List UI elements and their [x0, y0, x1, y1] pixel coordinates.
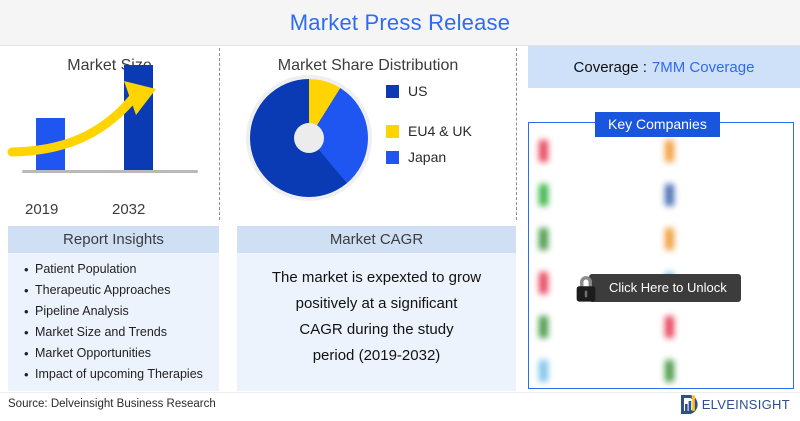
- cagr-line: CAGR during the study: [251, 317, 502, 343]
- cagr-line: positively at a significant: [251, 291, 502, 317]
- report-insights-list: Patient PopulationTherapeutic Approaches…: [8, 259, 219, 385]
- delveinsight-wordmark: ELVEINSIGHT: [702, 397, 790, 412]
- legend-swatch-us: [386, 85, 399, 98]
- market-size-panel: Market Size 2019 2032: [0, 48, 219, 220]
- list-item: Impact of upcoming Therapies: [24, 364, 219, 385]
- market-share-title: Market Share Distribution: [220, 57, 516, 75]
- key-companies-panel[interactable]: Click Here to Unlock: [528, 122, 794, 389]
- key-companies-badge: Key Companies: [595, 112, 720, 137]
- header-bar: Market Press Release: [0, 0, 800, 46]
- delveinsight-logo: ELVEINSIGHT: [681, 395, 790, 414]
- axis-label-start: 2019: [25, 201, 58, 218]
- page-title: Market Press Release: [290, 10, 510, 36]
- legend-item-japan: Japan: [386, 147, 516, 167]
- company-logo-grid: [529, 123, 793, 388]
- source-note: Source: Delveinsight Business Research: [8, 398, 216, 410]
- legend-swatch-japan: [386, 151, 399, 164]
- company-logo: [665, 131, 783, 171]
- padlock-icon: [569, 271, 603, 305]
- delveinsight-d-icon: [681, 395, 701, 414]
- legend-item-eu4-uk: EU4 & UK: [386, 121, 516, 141]
- report-insights-title: Report Insights: [8, 226, 219, 253]
- unlock-tooltip[interactable]: Click Here to Unlock: [589, 274, 741, 302]
- press-release-slide: Market Press Release Market Size 2019 20…: [0, 0, 800, 420]
- cagr-line: The market is expexted to grow: [251, 265, 502, 291]
- company-logo: [539, 175, 657, 215]
- list-item: Market Opportunities: [24, 343, 219, 364]
- market-share-panel: Market Share Distribution US EU4 & UK Ja…: [220, 48, 516, 220]
- company-logo: [665, 219, 783, 259]
- axis-label-end: 2032: [112, 201, 145, 218]
- company-logo: [665, 351, 783, 389]
- list-item: Pipeline Analysis: [24, 301, 219, 322]
- donut-hole: [250, 79, 368, 197]
- market-size-chart: 2019 2032: [0, 75, 219, 203]
- growth-arrow-icon: [6, 75, 206, 185]
- market-cagr-title: Market CAGR: [237, 226, 516, 253]
- market-size-title: Market Size: [0, 57, 219, 75]
- divider-right: [516, 48, 517, 220]
- company-logo: [539, 351, 657, 389]
- market-share-chart: US EU4 & UK Japan: [220, 75, 516, 203]
- company-logo: [665, 307, 783, 347]
- unlock-overlay[interactable]: Click Here to Unlock: [569, 271, 741, 305]
- company-logo: [539, 307, 657, 347]
- list-item: Patient Population: [24, 259, 219, 280]
- legend-swatch-eu4-uk: [386, 125, 399, 138]
- market-cagr-text: The market is expexted to growpositively…: [237, 253, 516, 369]
- company-logo: [665, 175, 783, 215]
- legend-item-us: US: [386, 81, 516, 101]
- cagr-line: period (2019-2032): [251, 343, 502, 369]
- list-item: Market Size and Trends: [24, 322, 219, 343]
- legend-label-eu4-uk: EU4 & UK: [408, 123, 472, 139]
- legend-label-japan: Japan: [408, 149, 446, 165]
- coverage-value: 7MM Coverage: [652, 59, 755, 76]
- chart-legend: US EU4 & UK Japan: [386, 81, 516, 167]
- footer-bar: Source: Delveinsight Business Research E…: [0, 392, 800, 421]
- company-logo: [539, 131, 657, 171]
- list-item: Therapeutic Approaches: [24, 280, 219, 301]
- coverage-banner: Coverage : 7MM Coverage: [528, 46, 800, 88]
- market-cagr-panel: Market CAGR The market is expexted to gr…: [237, 226, 516, 391]
- company-logo: [539, 219, 657, 259]
- coverage-label: Coverage :: [574, 59, 647, 76]
- legend-label-us: US: [408, 83, 427, 99]
- report-insights-panel: Report Insights Patient PopulationTherap…: [8, 226, 219, 391]
